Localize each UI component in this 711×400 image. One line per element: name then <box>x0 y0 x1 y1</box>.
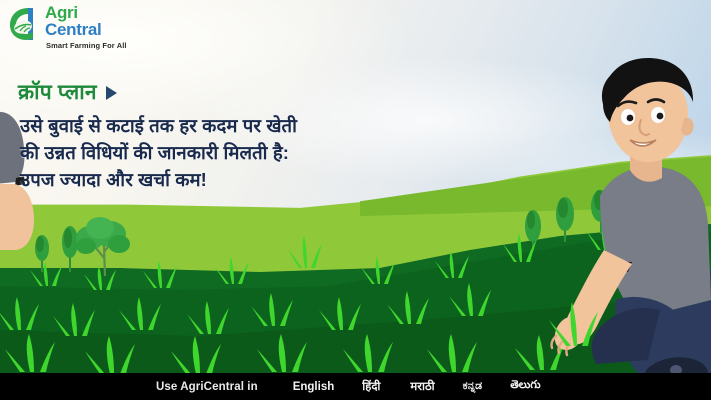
play-arrow-icon[interactable] <box>106 86 117 100</box>
language-bar-label: Use AgriCentral in <box>156 381 258 393</box>
brand-wordmark: Agri Central Smart Farming For All <box>45 4 127 50</box>
description-line-3: उपज ज्यादा और खर्चा कम! <box>20 166 450 193</box>
description-line-1: उसे बुवाई से कटाई तक हर कदम पर खेती <box>20 112 450 139</box>
language-option-marathi[interactable]: मराठी <box>410 379 434 394</box>
page-title: क्रॉप प्लान <box>18 78 97 106</box>
description-line-2: की उन्नत विधियों की जानकारी मिलती है: <box>20 139 450 166</box>
brand-tagline: Smart Farming For All <box>46 42 127 50</box>
language-option-english[interactable]: English <box>293 381 335 393</box>
description-text: उसे बुवाई से कटाई तक हर कदम पर खेती की उ… <box>20 112 450 193</box>
language-option-hindi[interactable]: हिंदी <box>362 379 380 394</box>
brand-logo[interactable]: Agri Central Smart Farming For All <box>8 4 188 52</box>
brand-name-central: Central <box>45 21 127 39</box>
language-option-telugu[interactable]: తెలుగు <box>510 379 540 394</box>
farmer-illustration <box>0 0 711 400</box>
section-heading[interactable]: क्रॉप प्लान <box>18 78 117 106</box>
brand-name-agri: Agri <box>45 4 127 21</box>
promo-banner: Agri Central Smart Farming For All क्रॉप… <box>0 0 711 400</box>
leaf-a-icon <box>8 6 42 42</box>
language-bar: Use AgriCentral in English हिंदी मराठी ಕ… <box>0 373 711 400</box>
language-option-kannada[interactable]: ಕನ್ನಡ <box>463 380 483 393</box>
